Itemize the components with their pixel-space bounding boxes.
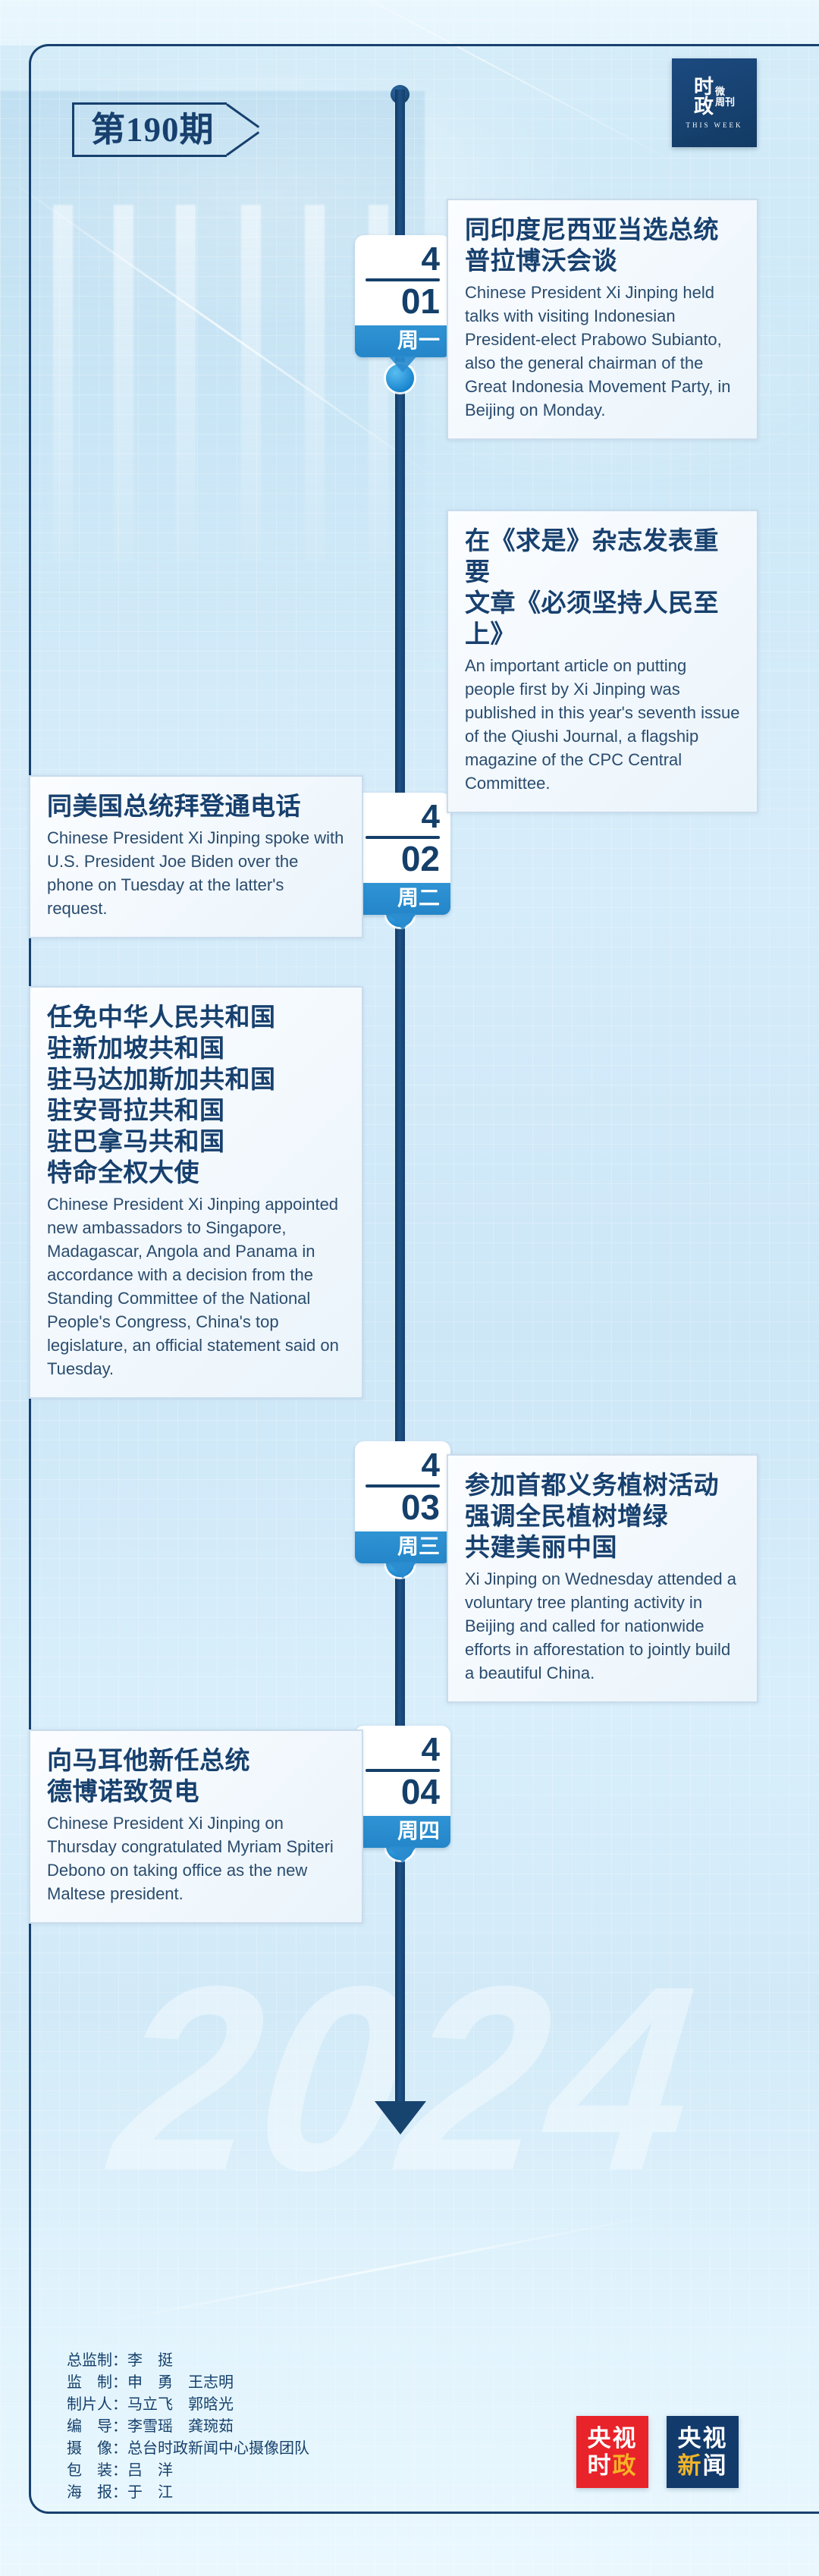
issue-number-badge: 第190期	[72, 102, 262, 157]
news-card-indonesia[interactable]: 同印度尼西亚当选总统 普拉博沃会谈 Chinese President Xi J…	[447, 199, 758, 440]
date-day: 01	[366, 283, 440, 319]
news-card-title: 参加首都义务植树活动 强调全民植树增绿 共建美丽中国	[465, 1471, 740, 1564]
logo-char-zheng: 政	[694, 97, 714, 117]
date-day: 04	[366, 1773, 440, 1810]
date-badge-pointer-icon	[388, 1846, 417, 1863]
date-weekday-label: 周四	[397, 1819, 440, 1842]
date-badge-card: 4 04	[355, 1726, 450, 1816]
cctv-news-row2: 新闻	[678, 2452, 728, 2480]
date-month: 4	[366, 1733, 440, 1767]
cctv-news-row1: 央视	[678, 2425, 728, 2452]
news-card-body: Chinese President Xi Jinping held talks …	[465, 281, 740, 422]
issue-badge-box: 第190期	[72, 102, 227, 157]
date-badge-04-04: 4 04 周四	[355, 1726, 450, 1848]
news-card-malta[interactable]: 向马耳他新任总统 德博诺致贺电 Chinese President Xi Jin…	[29, 1729, 363, 1924]
logo-main-stack: 时 政	[694, 77, 714, 117]
date-weekday: 周一	[355, 325, 450, 357]
this-week-logo: 时 政 微 周刊 THIS WEEK	[672, 58, 757, 147]
cctv-news-logo: 央视 新闻	[667, 2416, 739, 2488]
date-day: 03	[366, 1489, 440, 1525]
date-badge-pointer-icon	[388, 1562, 417, 1579]
date-badge-04-01: 4 01 周一	[355, 235, 450, 357]
date-weekday-label: 周一	[397, 328, 440, 352]
cctv-news-char-xin: 新	[678, 2452, 703, 2479]
logo-english-label: THIS WEEK	[686, 121, 742, 129]
cctv-politics-char-zheng: 政	[613, 2452, 638, 2479]
logo-char-wei: 微	[715, 86, 735, 97]
news-card-title: 任免中华人民共和国 驻新加坡共和国 驻马达加斯加共和国 驻安哥拉共和国 驻巴拿马…	[47, 1003, 345, 1189]
issue-badge-chevron-icon	[227, 102, 262, 157]
news-card-body: Xi Jinping on Wednesday attended a volun…	[465, 1567, 740, 1685]
news-card-title: 在《求是》杂志发表重要 文章《必须坚持人民至上》	[465, 526, 740, 651]
news-card-body: Chinese President Xi Jinping on Thursday…	[47, 1811, 345, 1905]
news-card-body: Chinese President Xi Jinping appointed n…	[47, 1192, 345, 1381]
date-weekday: 周二	[355, 883, 450, 915]
cctv-politics-row2: 时政	[588, 2452, 638, 2480]
logo-char-shi: 时	[694, 77, 714, 97]
issue-number-label: 第190期	[91, 113, 215, 147]
bottom-logos: 央视 时政 央视 新闻	[576, 2416, 739, 2488]
logo-chinese-characters: 时 政 微 周刊	[694, 77, 735, 117]
news-card-title: 向马耳他新任总统 德博诺致贺电	[47, 1746, 345, 1808]
news-card-biden-call[interactable]: 同美国总统拜登通电话 Chinese President Xi Jinping …	[29, 775, 363, 938]
news-card-qiushi[interactable]: 在《求是》杂志发表重要 文章《必须坚持人民至上》 An important ar…	[447, 510, 758, 813]
news-card-tree-planting[interactable]: 参加首都义务植树活动 强调全民植树增绿 共建美丽中国 Xi Jinping on…	[447, 1454, 758, 1703]
logo-side-stack: 微 周刊	[715, 86, 735, 108]
news-card-title: 同印度尼西亚当选总统 普拉博沃会谈	[465, 215, 740, 278]
cctv-politics-row1: 央视	[588, 2425, 638, 2452]
date-weekday-label: 周三	[397, 1535, 440, 1558]
news-card-ambassadors[interactable]: 任免中华人民共和国 驻新加坡共和国 驻马达加斯加共和国 驻安哥拉共和国 驻巴拿马…	[29, 986, 363, 1399]
date-badge-04-03: 4 03 周三	[355, 1441, 450, 1563]
news-card-title: 同美国总统拜登通电话	[47, 792, 345, 823]
date-weekday-label: 周二	[397, 886, 440, 909]
cctv-politics-logo: 央视 时政	[576, 2416, 648, 2488]
credits-block: 总监制：李 挺 监 制：申 勇 王志明 制片人：马立飞 郭晗光 编 导：李雪瑶 …	[67, 2350, 309, 2504]
date-badge-pointer-icon	[388, 356, 417, 372]
date-month: 4	[366, 1449, 440, 1482]
cctv-politics-char-shi: 时	[588, 2452, 613, 2479]
cctv-news-char-wen: 闻	[703, 2452, 728, 2479]
date-weekday: 周三	[355, 1531, 450, 1563]
date-badge-card: 4 01	[355, 235, 450, 325]
date-weekday: 周四	[355, 1816, 450, 1848]
date-badge-card: 4 02	[355, 793, 450, 883]
date-badge-04-02: 4 02 周二	[355, 793, 450, 915]
date-month: 4	[366, 800, 440, 834]
date-day: 02	[366, 840, 440, 877]
logo-char-zhoukan: 周刊	[715, 97, 735, 108]
timeline-arrow-icon	[375, 2101, 426, 2135]
date-badge-pointer-icon	[388, 913, 417, 930]
date-badge-card: 4 03	[355, 1441, 450, 1531]
news-card-body: An important article on putting people f…	[465, 654, 740, 795]
date-month: 4	[366, 243, 440, 276]
news-card-body: Chinese President Xi Jinping spoke with …	[47, 826, 345, 920]
background-year-watermark: 2024	[0, 1912, 819, 2246]
